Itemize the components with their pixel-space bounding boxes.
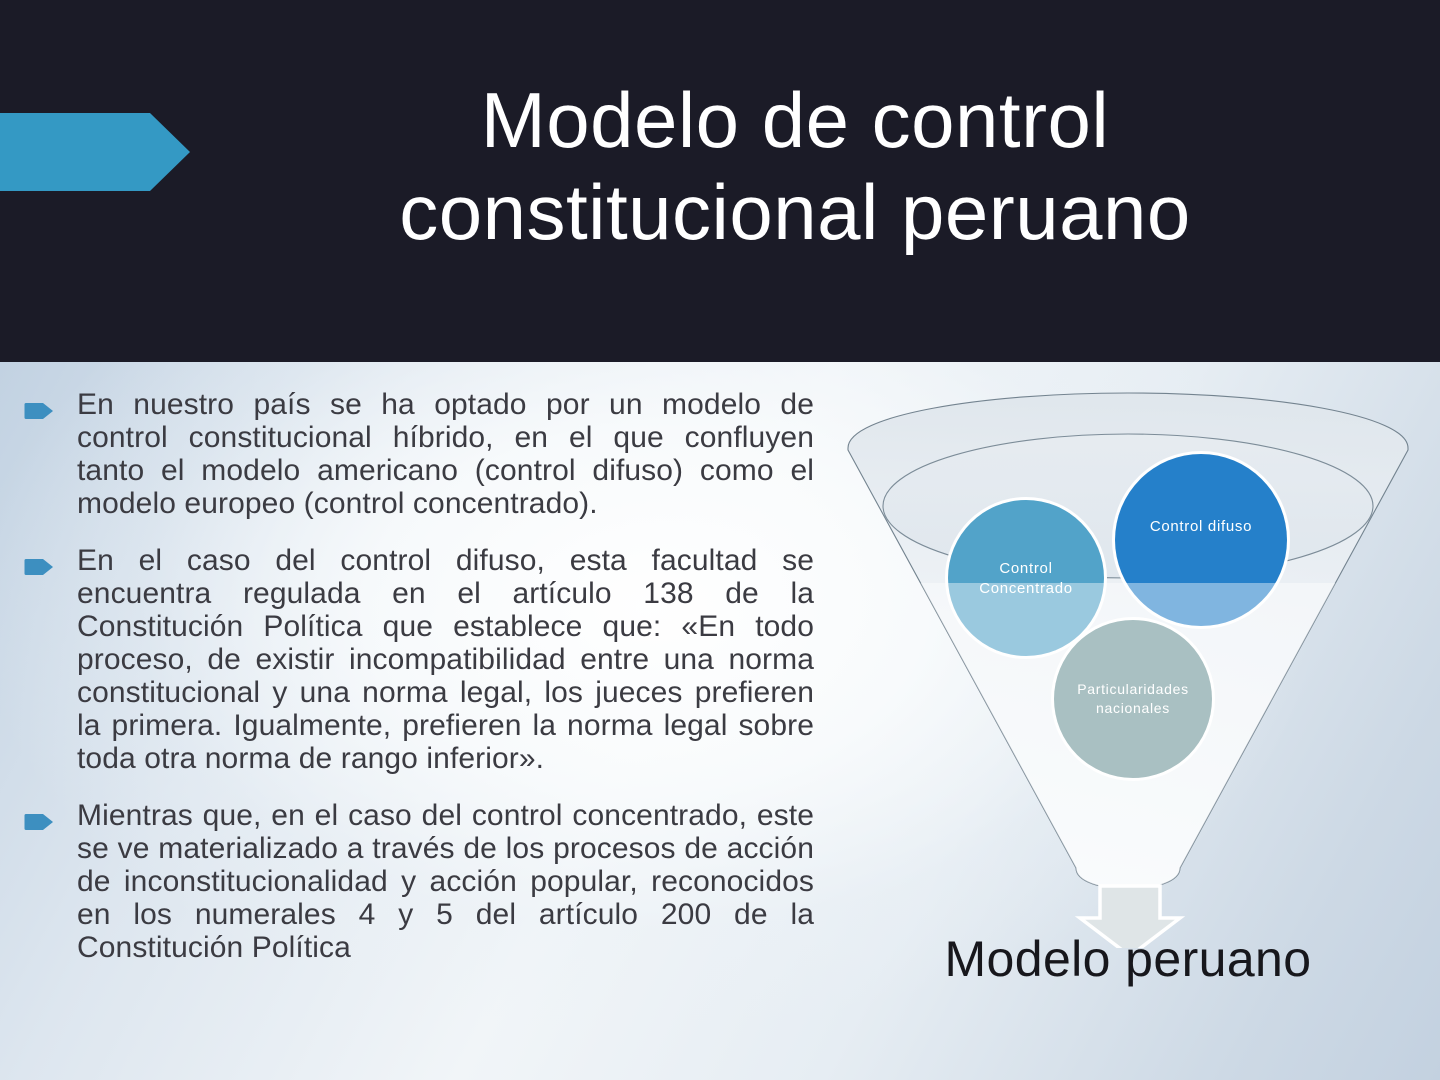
list-item: Mientras que, en el caso del control con… xyxy=(24,799,814,964)
chevron-accent-icon xyxy=(0,113,190,191)
diagram-caption: Modelo peruano xyxy=(828,930,1428,988)
list-item-text: En el caso del control difuso, esta facu… xyxy=(77,544,814,775)
list-item: En el caso del control difuso, esta facu… xyxy=(24,544,814,775)
chevron-bullet-icon xyxy=(24,558,54,576)
page-title: Modelo de control constitucional peruano xyxy=(200,74,1390,258)
list-item-text: Mientras que, en el caso del control con… xyxy=(77,799,814,964)
chevron-bullet-icon xyxy=(24,813,54,831)
chevron-bullet-icon xyxy=(24,402,54,420)
circle-label-line1: Particularidades xyxy=(1077,681,1189,697)
list-item-text: En nuestro país se ha optado por un mode… xyxy=(77,388,814,520)
slide-header: Modelo de control constitucional peruano xyxy=(0,0,1440,362)
circle-particularidades-nacionales: Particularidades nacionales xyxy=(1051,617,1215,781)
circle-label-line1: Control difuso xyxy=(1150,518,1252,535)
circle-label-line2: nacionales xyxy=(1096,700,1170,716)
bullet-list: En nuestro país se ha optado por un mode… xyxy=(24,388,814,988)
slide: Modelo de control constitucional peruano… xyxy=(0,0,1440,1080)
circle-label-line1: Control xyxy=(999,560,1052,577)
list-item: En nuestro país se ha optado por un mode… xyxy=(24,388,814,520)
funnel-diagram: Control Concentrado Control difuso Parti… xyxy=(828,388,1428,948)
